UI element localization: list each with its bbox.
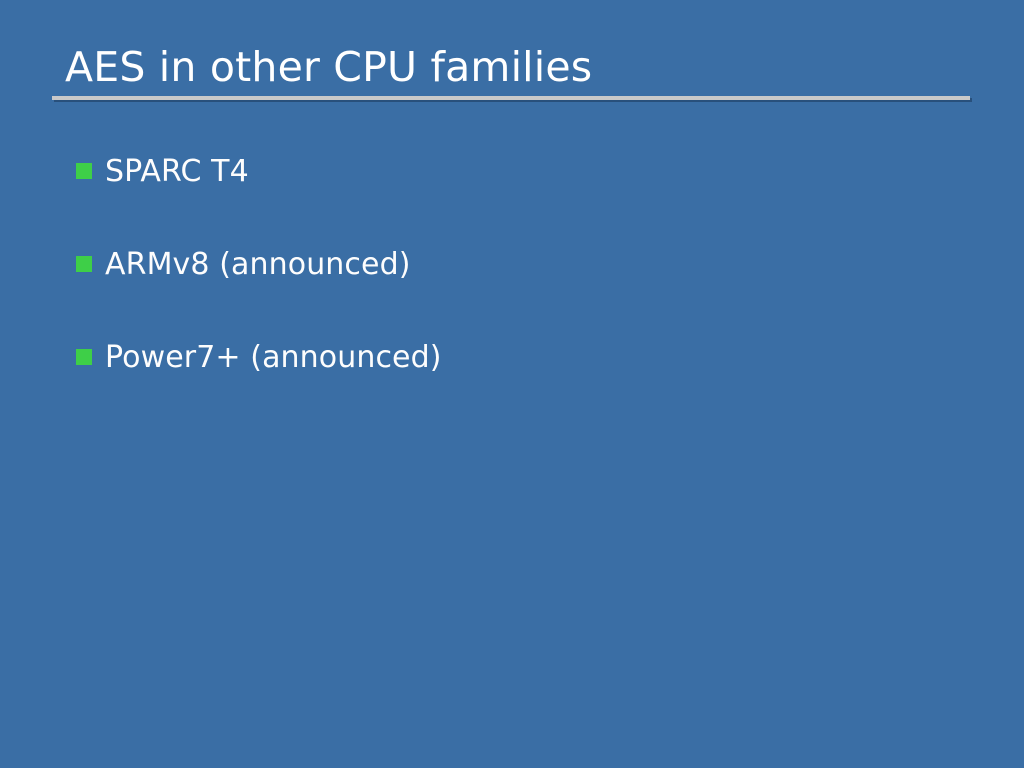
slide-title-block: AES in other CPU families [52, 42, 972, 92]
square-bullet-icon [76, 256, 92, 272]
list-item-label: SPARC T4 [105, 155, 249, 189]
list-item: SPARC T4 [76, 155, 976, 248]
title-underline-rule [52, 96, 970, 100]
list-item: ARMv8 (announced) [76, 248, 976, 341]
bullet-list: SPARC T4 ARMv8 (announced) Power7+ (anno… [76, 155, 976, 434]
square-bullet-icon [76, 349, 92, 365]
list-item-label: Power7+ (announced) [105, 341, 442, 375]
list-item: Power7+ (announced) [76, 341, 976, 434]
square-bullet-icon [76, 163, 92, 179]
presentation-slide: AES in other CPU families SPARC T4 ARMv8… [0, 0, 1024, 768]
page-title: AES in other CPU families [52, 42, 972, 92]
list-item-label: ARMv8 (announced) [105, 248, 411, 282]
